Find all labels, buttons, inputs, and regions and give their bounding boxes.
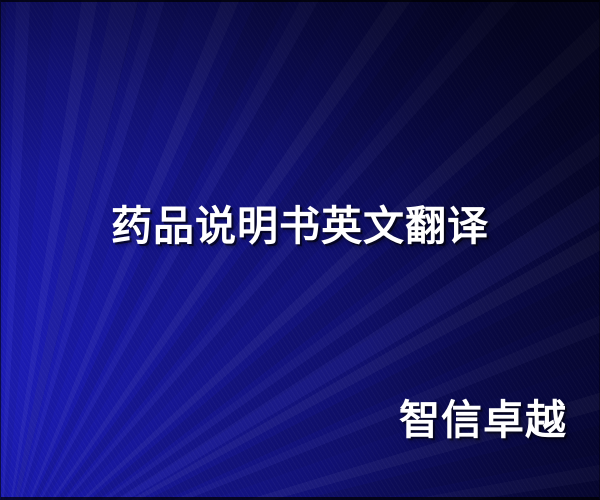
slide-title: 药品说明书英文翻译 [0,206,600,247]
presentation-slide: 药品说明书英文翻译 智信卓越 [0,0,600,500]
brand-logo-text: 智信卓越 [399,400,567,441]
